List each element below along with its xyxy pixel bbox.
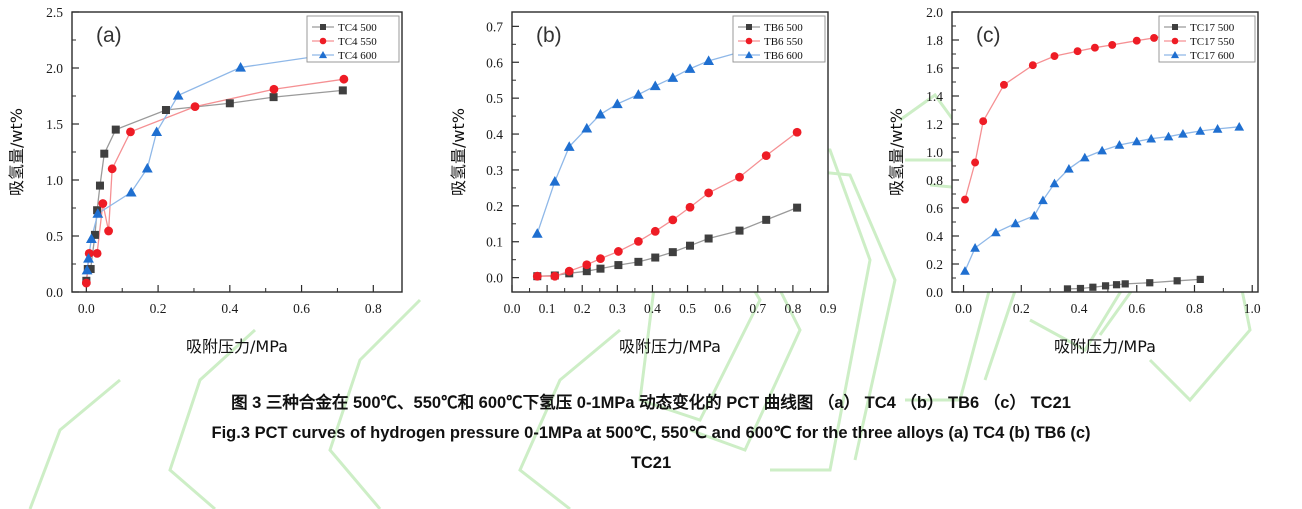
data-point-circle [735, 173, 744, 182]
y-tick-label: 1.0 [926, 145, 943, 160]
data-point-circle [1108, 41, 1116, 49]
data-point-circle [1029, 61, 1037, 69]
data-point-square [686, 242, 694, 250]
data-point-square [1122, 280, 1129, 287]
panel-c-tag: (c) [976, 24, 1001, 47]
legend-marker-circle [320, 38, 327, 45]
data-point-square [1102, 282, 1109, 289]
y-tick-label: 1.0 [46, 173, 63, 188]
y-tick-label: 0.6 [486, 55, 503, 70]
y-tick-label: 0.8 [926, 173, 943, 188]
data-point-circle [596, 254, 605, 263]
x-tick-label: 0.2 [1013, 301, 1030, 316]
legend-label[interactable]: TC17 600 [1190, 50, 1235, 62]
y-tick-label: 1.2 [926, 117, 943, 132]
y-tick-label: 0.3 [486, 163, 503, 178]
x-tick-label: 0.8 [1186, 301, 1203, 316]
data-point-square [96, 182, 104, 190]
y-tick-label: 0.4 [926, 229, 943, 244]
legend-marker-square [746, 24, 752, 30]
data-point-circle [191, 102, 200, 111]
data-point-circle [1150, 34, 1158, 42]
legend-label[interactable]: TB6 500 [764, 22, 803, 34]
panel-c-legend[interactable]: TC17 500TC17 550TC17 600 [1159, 16, 1255, 62]
y-tick-label: 1.4 [926, 89, 943, 104]
x-tick-label: 0.2 [150, 301, 167, 316]
data-point-square [1197, 276, 1204, 283]
figure-pct-curves: 0.00.20.40.60.80.00.51.01.52.02.5 (a) 吸附… [0, 0, 1302, 509]
data-point-square [226, 99, 234, 107]
data-point-circle [339, 75, 348, 84]
data-point-circle [1000, 81, 1008, 89]
data-point-circle [634, 237, 643, 246]
x-tick-label: 0.0 [955, 301, 972, 316]
panel-a-legend[interactable]: TC4 500TC4 550TC4 600 [307, 16, 399, 62]
x-tick-label: 0.4 [221, 301, 238, 316]
y-tick-label: 1.5 [46, 117, 63, 132]
x-tick-label: 0.9 [820, 301, 837, 316]
x-tick-label: 0.4 [1071, 301, 1088, 316]
caption-english-continued: TC21 [0, 448, 1302, 478]
data-point-square [634, 258, 642, 266]
data-point-circle [582, 260, 591, 269]
data-point-circle [793, 128, 802, 137]
x-tick-label: 0.6 [714, 301, 731, 316]
y-tick-label: 0.0 [926, 285, 943, 300]
data-point-square [596, 265, 604, 273]
y-tick-label: 0.1 [486, 235, 503, 250]
x-tick-label: 0.8 [365, 301, 382, 316]
data-point-square [614, 261, 622, 269]
data-point-circle [1051, 52, 1059, 60]
legend-label[interactable]: TB6 550 [764, 36, 803, 48]
data-point-square [1089, 284, 1096, 291]
panel-a-yaxis-title: 吸氢量/wt% [7, 108, 26, 196]
panel-c-plot: 0.00.20.40.60.81.00.00.20.40.60.81.01.21… [880, 0, 1302, 375]
data-point-circle [82, 279, 91, 288]
data-point-square [1064, 285, 1071, 292]
legend-label[interactable]: TB6 600 [764, 50, 803, 62]
y-tick-label: 0.2 [926, 257, 943, 272]
data-point-circle [550, 272, 559, 281]
data-point-circle [108, 164, 117, 173]
data-point-circle [1133, 37, 1141, 45]
panel-a: 0.00.20.40.60.80.00.51.01.52.02.5 (a) 吸附… [0, 0, 442, 375]
data-point-square [669, 248, 677, 256]
data-point-circle [1091, 44, 1099, 52]
caption-chinese: 图 3 三种合金在 500℃、550℃和 600℃下氢压 0-1MPa 动态变化… [0, 388, 1302, 418]
legend-label[interactable]: TC17 500 [1190, 22, 1235, 34]
panel-row: 0.00.20.40.60.80.00.51.01.52.02.5 (a) 吸附… [0, 0, 1302, 375]
data-point-circle [98, 199, 107, 208]
y-tick-label: 0.0 [486, 271, 503, 286]
y-tick-label: 0.5 [486, 91, 503, 106]
y-tick-label: 0.0 [46, 285, 63, 300]
data-point-square [270, 93, 278, 101]
legend-marker-square [1172, 24, 1178, 30]
data-point-square [112, 126, 120, 134]
data-point-square [339, 86, 347, 94]
panel-b-yaxis-title: 吸氢量/wt% [449, 108, 468, 196]
data-point-circle [762, 151, 771, 160]
y-tick-label: 0.7 [486, 19, 503, 34]
x-tick-label: 0.6 [1128, 301, 1145, 316]
x-tick-label: 0.0 [504, 301, 521, 316]
figure-caption: 图 3 三种合金在 500℃、550℃和 600℃下氢压 0-1MPa 动态变化… [0, 388, 1302, 478]
panel-a-plot: 0.00.20.40.60.80.00.51.01.52.02.5 (a) 吸附… [0, 0, 442, 375]
y-tick-label: 0.2 [486, 199, 503, 214]
data-point-square [1113, 281, 1120, 288]
data-point-circle [979, 117, 987, 125]
data-point-square [736, 227, 744, 235]
x-tick-label: 0.1 [539, 301, 556, 316]
legend-marker-circle [1172, 38, 1179, 45]
x-tick-label: 0.8 [784, 301, 801, 316]
y-tick-label: 0.5 [46, 229, 63, 244]
y-tick-label: 0.6 [926, 201, 943, 216]
panel-c: 0.00.20.40.60.81.00.00.20.40.60.81.01.21… [880, 0, 1302, 375]
caption-english: Fig.3 PCT curves of hydrogen pressure 0-… [0, 418, 1302, 448]
data-point-circle [126, 127, 135, 136]
y-tick-label: 2.0 [926, 5, 943, 20]
data-point-square [162, 106, 170, 114]
legend-label[interactable]: TC4 500 [338, 22, 377, 34]
legend-marker-circle [746, 38, 753, 45]
data-point-square [793, 204, 801, 212]
x-tick-label: 0.2 [574, 301, 591, 316]
legend-label[interactable]: TC4 550 [338, 36, 377, 48]
panel-c-yaxis-title: 吸氢量/wt% [887, 108, 906, 196]
data-point-circle [971, 159, 979, 167]
data-point-square [651, 254, 659, 262]
data-point-circle [104, 227, 113, 236]
data-point-square [1146, 279, 1153, 286]
panel-b-plot: 0.00.10.20.30.40.50.60.70.80.90.00.10.20… [440, 0, 880, 375]
panel-a-xaxis-title: 吸附压力/MPa [186, 337, 288, 356]
panel-c-xaxis-title: 吸附压力/MPa [1054, 337, 1156, 356]
data-point-circle [533, 272, 542, 281]
data-point-square [762, 216, 770, 224]
x-tick-label: 0.5 [679, 301, 696, 316]
data-point-square [1174, 277, 1181, 284]
y-tick-label: 1.6 [926, 61, 943, 76]
panel-b-tag: (b) [536, 24, 562, 47]
x-tick-label: 0.3 [609, 301, 626, 316]
data-point-circle [565, 267, 574, 276]
y-tick-label: 1.8 [926, 33, 943, 48]
data-point-circle [614, 247, 623, 256]
data-point-square [705, 235, 713, 243]
data-point-circle [961, 196, 969, 204]
x-tick-label: 1.0 [1244, 301, 1261, 316]
data-point-circle [1074, 47, 1082, 55]
x-tick-label: 0.7 [749, 301, 766, 316]
x-tick-label: 0.4 [644, 301, 661, 316]
legend-label[interactable]: TC17 550 [1190, 36, 1235, 48]
data-point-circle [93, 249, 102, 258]
y-tick-label: 2.0 [46, 61, 63, 76]
data-point-circle [704, 189, 713, 198]
data-point-square [1077, 285, 1084, 292]
data-point-circle [668, 215, 677, 224]
legend-label[interactable]: TC4 600 [338, 50, 377, 62]
data-point-circle [270, 85, 279, 94]
y-tick-label: 2.5 [46, 5, 63, 20]
panel-b: 0.00.10.20.30.40.50.60.70.80.90.00.10.20… [440, 0, 880, 375]
data-point-circle [686, 203, 695, 212]
x-tick-label: 0.6 [293, 301, 310, 316]
legend-marker-square [320, 24, 326, 30]
panel-b-legend[interactable]: TB6 500TB6 550TB6 600 [733, 16, 825, 62]
y-tick-label: 0.4 [486, 127, 503, 142]
data-point-square [100, 150, 108, 158]
x-tick-label: 0.0 [78, 301, 95, 316]
panel-b-xaxis-title: 吸附压力/MPa [619, 337, 721, 356]
panel-a-tag: (a) [96, 24, 122, 47]
data-point-circle [651, 227, 660, 236]
